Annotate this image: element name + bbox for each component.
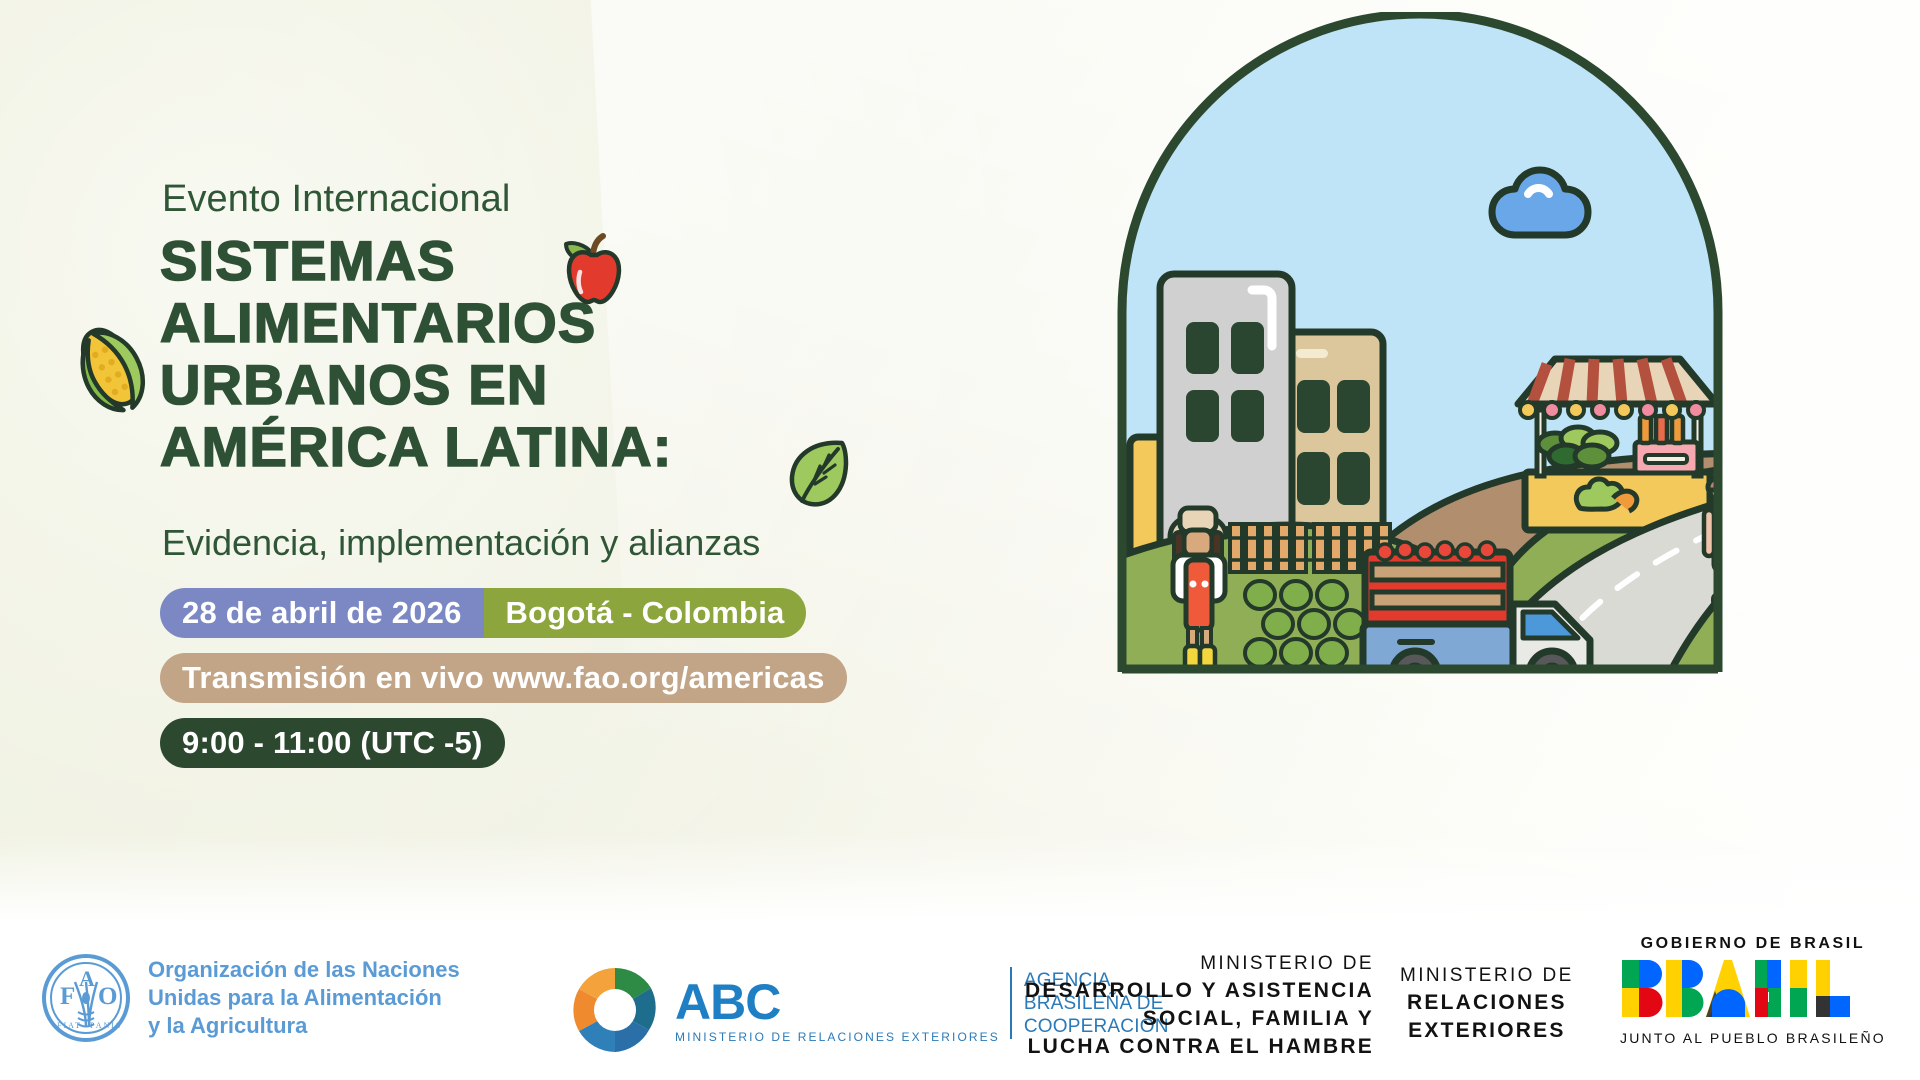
ministry-social-light-line: MINISTERIO DE	[1025, 950, 1374, 977]
badge-date[interactable]: 28 de abril de 2026	[160, 588, 484, 638]
ministry-social-block: MINISTERIO DE DESARROLLO Y ASISTENCIA SO…	[1025, 950, 1374, 1061]
fao-name-line-2: Unidas para la Alimentación	[148, 984, 460, 1012]
badge-row-time: 9:00 - 11:00 (UTC -5)	[160, 718, 980, 768]
fao-logo: F A O FIAT PANIS	[40, 952, 132, 1044]
abc-wordmark-block: ABC MINISTERIO DE RELACIONES EXTERIORES	[675, 976, 1000, 1044]
child-figure	[1753, 499, 1792, 601]
fao-name-line-3: y la Agricultura	[148, 1012, 460, 1040]
ministry-social-bold-line-2: SOCIAL, FAMILIA Y	[1025, 1005, 1374, 1033]
title-line-3: URBANOS EN	[160, 354, 920, 416]
event-kicker: Evento Internacional	[162, 178, 510, 221]
apple-icon	[545, 228, 637, 325]
svg-text:F: F	[60, 983, 75, 1010]
event-banner: Evento Internacional SISTEMAS ALIMENTARI…	[0, 0, 1920, 1080]
abc-wordmark: ABC	[675, 976, 1000, 1028]
badge-row-date-location: 28 de abril de 2026 Bogotá - Colombia	[160, 588, 980, 638]
svg-text:FIAT: FIAT	[57, 1021, 82, 1030]
badge-time[interactable]: 9:00 - 11:00 (UTC -5)	[160, 718, 505, 768]
brasil-top-label: GOBIERNO DE BRASIL	[1620, 935, 1886, 953]
brasil-bottom-label: JUNTO AL PUEBLO BRASILEÑO	[1620, 1030, 1886, 1046]
market-stall	[1518, 359, 1717, 530]
fao-logo-block: F A O FIAT PANIS Organización de las Nac…	[40, 952, 460, 1044]
brasil-wordmark-icon	[1620, 958, 1852, 1020]
svg-text:O: O	[98, 983, 117, 1010]
corn-icon	[60, 318, 170, 438]
ministry-social-bold-line-1: DESARROLLO Y ASISTENCIA	[1025, 977, 1374, 1005]
ministry-social-bold-line-3: LUCHA CONTRA EL HAMBRE	[1025, 1033, 1374, 1061]
title-line-1: SISTEMAS	[160, 230, 920, 292]
abc-ministry-line: MINISTERIO DE RELACIONES EXTERIORES	[675, 1030, 1000, 1044]
leaf-icon	[782, 435, 854, 516]
abc-divider	[1010, 967, 1012, 1039]
urban-food-system-illustration	[1100, 12, 1820, 692]
badge-livestream-url[interactable]: Transmisión en vivo www.fao.org/americas	[160, 653, 847, 703]
brasil-government-block: GOBIERNO DE BRASIL	[1620, 935, 1886, 1046]
svg-text:PANIS: PANIS	[90, 1021, 122, 1030]
ministry-foreign-bold-line-2: EXTERIORES	[1400, 1017, 1574, 1045]
badge-row-stream: Transmisión en vivo www.fao.org/americas	[160, 653, 980, 703]
event-subtitle: Evidencia, implementación y alianzas	[162, 522, 760, 564]
ministry-foreign-block: MINISTERIO DE RELACIONES EXTERIORES	[1400, 962, 1574, 1045]
ministry-foreign-light-line: MINISTERIO DE	[1400, 962, 1574, 989]
fao-name-line-1: Organización de las Naciones	[148, 956, 460, 984]
crop-rows	[1245, 581, 1365, 667]
title-line-2: ALIMENTARIOS	[160, 292, 920, 354]
badge-location[interactable]: Bogotá - Colombia	[484, 588, 807, 638]
stall-produce	[1538, 427, 1617, 467]
event-badges: 28 de abril de 2026 Bogotá - Colombia Tr…	[160, 588, 980, 783]
event-info-column: Evento Internacional SISTEMAS ALIMENTARI…	[0, 0, 1030, 922]
ministry-foreign-bold-line-1: RELACIONES	[1400, 989, 1574, 1017]
fao-name: Organización de las Naciones Unidas para…	[148, 956, 460, 1040]
fence-bottom	[1230, 676, 1390, 692]
abc-ring-icon	[565, 960, 665, 1060]
stall-awning	[1518, 359, 1717, 418]
